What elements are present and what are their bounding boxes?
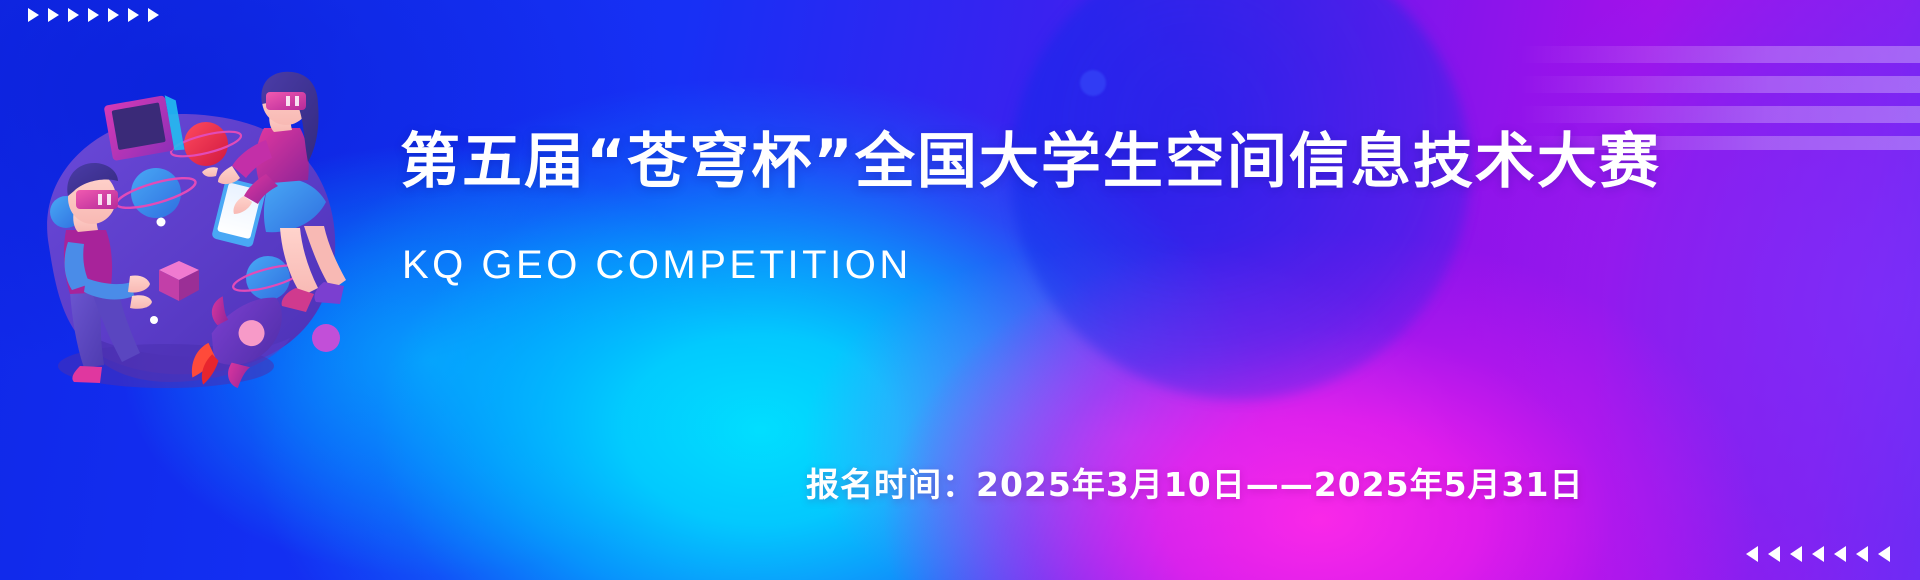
triangle-left-icon: [1768, 546, 1780, 562]
triangle-left-icon: [1790, 546, 1802, 562]
vr-space-illustration: [18, 70, 358, 390]
triangle-right-icon: [128, 8, 139, 22]
triangle-right-icon: [28, 8, 39, 22]
top-left-arrow-group: [28, 8, 159, 22]
triangle-right-icon: [48, 8, 59, 22]
triangle-left-icon: [1834, 546, 1846, 562]
triangle-left-icon: [1856, 546, 1868, 562]
banner-title-chinese: 第五届“苍穹杯”全国大学生空间信息技术大赛: [400, 128, 1661, 197]
triangle-right-icon: [68, 8, 79, 22]
triangle-left-icon: [1746, 546, 1758, 562]
triangle-right-icon: [148, 8, 159, 22]
banner-title-english: KQ GEO COMPETITION: [402, 243, 912, 288]
triangle-left-icon: [1878, 546, 1890, 562]
registration-period-text: 报名时间：2025年3月10日——2025年5月31日: [806, 458, 1583, 506]
triangle-right-icon: [88, 8, 99, 22]
bottom-right-arrow-group: [1746, 546, 1890, 562]
vr-goggles: [76, 190, 118, 209]
triangle-right-icon: [108, 8, 119, 22]
background-soft-circle: [1010, 0, 1470, 400]
competition-banner: 第五届“苍穹杯”全国大学生空间信息技术大赛 KQ GEO COMPETITION…: [0, 0, 1920, 580]
stripe-2: [1520, 76, 1920, 93]
stripe-1: [1520, 46, 1920, 63]
triangle-left-icon: [1812, 546, 1824, 562]
stripe-3: [1520, 106, 1920, 123]
background-small-planet-dot: [1080, 70, 1106, 96]
purple-dot-small: [312, 324, 340, 352]
